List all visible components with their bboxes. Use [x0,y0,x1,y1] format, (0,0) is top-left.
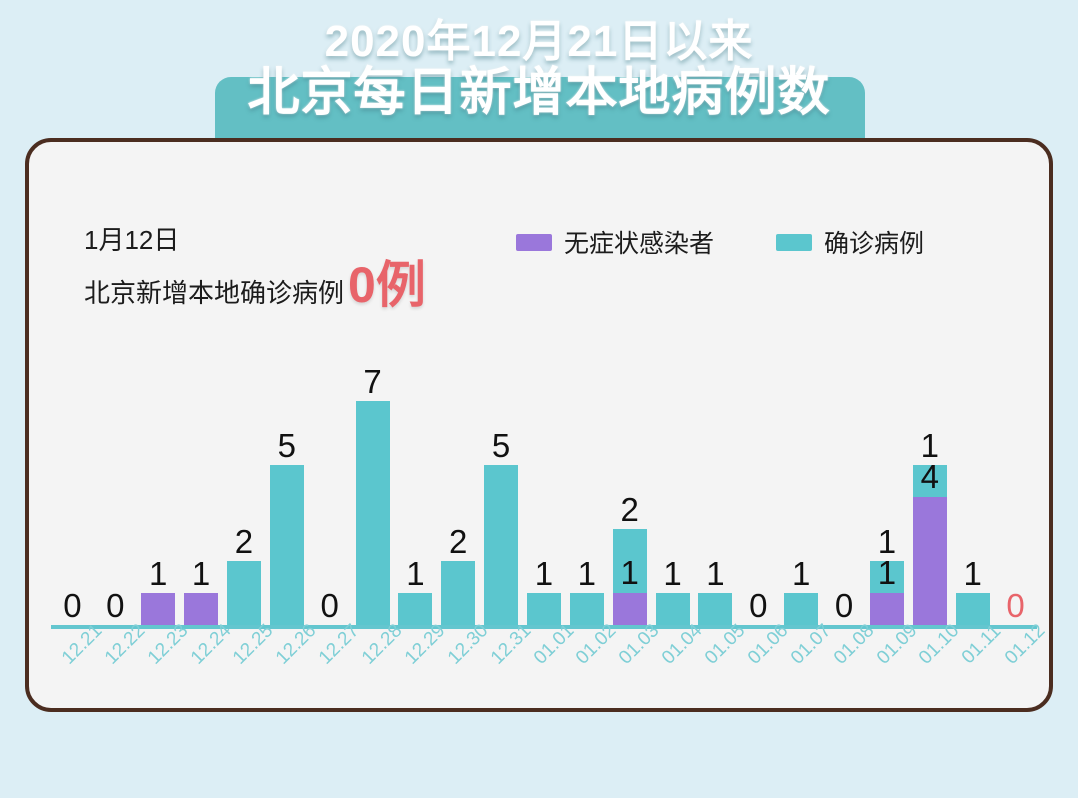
bar-stack[interactable]: 1 [956,593,990,625]
bar-value-label: 2 [621,493,639,526]
bar-segment-asymptomatic[interactable] [613,593,647,625]
bar-segment-confirmed[interactable] [441,561,475,625]
bar-column[interactable]: 1 [951,593,994,625]
bar-segment-confirmed[interactable] [398,593,432,625]
bar-column[interactable]: 14 [908,465,951,625]
bar-column[interactable]: 1 [694,593,737,625]
bar-segment-asymptomatic[interactable] [184,593,218,625]
bar-stack[interactable]: 14 [913,465,947,625]
bar-value-label: 1 [535,557,553,590]
bar-value-label: 1 [963,557,981,590]
x-tick-label: 12.22 [94,631,137,659]
plot-area: 00112507125112111010111410 12.2112.2212.… [29,142,1053,712]
bar-value-label: 1 [706,557,724,590]
x-tick-label: 12.30 [437,631,480,659]
bar-segment-confirmed[interactable] [270,465,304,625]
bar-segment-asymptomatic[interactable] [913,497,947,625]
x-tick-label: 01.11 [951,631,994,659]
bar-column[interactable]: 5 [480,465,523,625]
bar-value-label: 1 [663,557,681,590]
bar-stack[interactable]: 1 [527,593,561,625]
bar-stack[interactable]: 1 [656,593,690,625]
x-tick-label: 12.31 [480,631,523,659]
x-tick-label: 01.10 [908,631,951,659]
bar-stack[interactable]: 11 [870,561,904,625]
x-tick-label: 12.23 [137,631,180,659]
bar-segment-confirmed[interactable] [784,593,818,625]
bar-column[interactable]: 2 [222,561,265,625]
bar-value-label: 5 [278,429,296,462]
bar-stack[interactable]: 2 [441,561,475,625]
x-tick-label: 01.03 [608,631,651,659]
bar-column[interactable]: 7 [351,401,394,625]
bar-column[interactable]: 11 [866,561,909,625]
bar-segment-confirmed[interactable] [698,593,732,625]
x-tick-label: 01.07 [780,631,823,659]
bar-value-label: 0 [106,589,124,622]
bar-column[interactable]: 1 [565,593,608,625]
bar-inner-value-label: 1 [621,556,639,589]
bar-stack[interactable]: 1 [141,593,175,625]
x-tick-label: 01.02 [565,631,608,659]
bar-group: 00112507125112111010111410 [51,325,1037,625]
bar-stack[interactable]: 7 [356,401,390,625]
bar-value-label: 0 [320,589,338,622]
bar-value-label: 1 [192,557,210,590]
infographic-page: 2020年12月21日以来 北京每日新增本地病例数 1月12日 北京新增本地确诊… [0,0,1078,798]
bar-column[interactable]: 1 [180,593,223,625]
bar-value-label: 1 [578,557,596,590]
bar-inner-value-label: 1 [878,556,896,589]
x-tick-label: 12.26 [265,631,308,659]
bar-segment-confirmed[interactable] [956,593,990,625]
bar-stack[interactable]: 1 [698,593,732,625]
x-tick-label: 01.01 [523,631,566,659]
bar-stack[interactable]: 5 [270,465,304,625]
x-axis-line [51,625,1037,629]
x-tick-label: 12.21 [51,631,94,659]
bar-segment-confirmed[interactable] [656,593,690,625]
bar-stack[interactable]: 1 [570,593,604,625]
bar-stack[interactable]: 2 [227,561,261,625]
bar-stack[interactable]: 21 [613,529,647,625]
x-tick-label: 01.06 [737,631,780,659]
bar-value-label: 2 [235,525,253,558]
bar-value-label: 5 [492,429,510,462]
x-tick-label: 01.04 [651,631,694,659]
bar-segment-confirmed[interactable] [227,561,261,625]
bar-value-label: 2 [449,525,467,558]
x-tick-label: 01.12 [994,631,1037,659]
bar-segment-confirmed[interactable] [356,401,390,625]
bar-value-label: 0 [749,589,767,622]
bar-column[interactable]: 1 [394,593,437,625]
bar-column[interactable]: 1 [651,593,694,625]
bar-column[interactable]: 21 [608,529,651,625]
chart-card: 1月12日 北京新增本地确诊病例 0例 无症状感染者确诊病例 001125071… [25,138,1053,712]
bar-value-label: 1 [149,557,167,590]
bar-column[interactable]: 1 [137,593,180,625]
bar-inner-value-label: 4 [921,460,939,493]
bar-value-label: 0 [835,589,853,622]
x-tick-label: 12.28 [351,631,394,659]
bar-segment-confirmed[interactable] [527,593,561,625]
x-tick-label: 12.25 [222,631,265,659]
x-tick-label: 01.08 [823,631,866,659]
x-tick-label: 01.05 [694,631,737,659]
x-axis-tick-labels: 12.2112.2212.2312.2412.2512.2612.2712.28… [51,631,1037,711]
bar-column[interactable]: 1 [523,593,566,625]
bar-segment-asymptomatic[interactable] [141,593,175,625]
x-tick-label: 12.24 [180,631,223,659]
bar-value-label: 0 [63,589,81,622]
bar-stack[interactable]: 1 [184,593,218,625]
x-tick-label: 12.27 [308,631,351,659]
bar-stack[interactable]: 1 [784,593,818,625]
bar-value-label: 1 [792,557,810,590]
bar-segment-confirmed[interactable] [570,593,604,625]
bar-segment-asymptomatic[interactable] [870,593,904,625]
bar-value-label: 7 [363,365,381,398]
bar-value-label: 1 [406,557,424,590]
x-tick-label: 01.09 [866,631,909,659]
bar-stack[interactable]: 5 [484,465,518,625]
title-line-1: 2020年12月21日以来 [0,20,1078,65]
bar-column[interactable]: 2 [437,561,480,625]
x-tick-label: 12.29 [394,631,437,659]
bar-segment-confirmed[interactable] [484,465,518,625]
bar-value-label: 0 [1006,589,1024,622]
bar-column[interactable]: 1 [780,593,823,625]
bar-stack[interactable]: 1 [398,593,432,625]
bar-column[interactable]: 5 [265,465,308,625]
